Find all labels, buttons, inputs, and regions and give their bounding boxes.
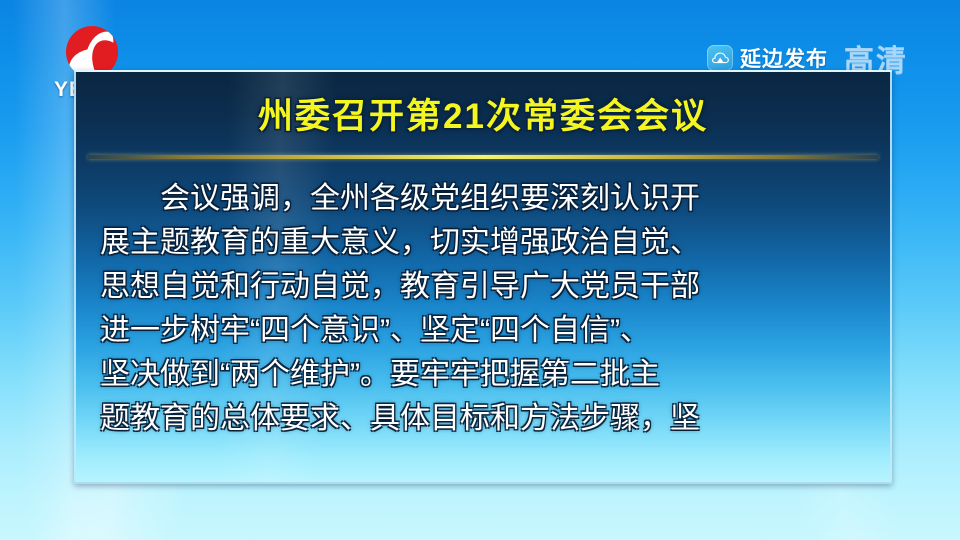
headline-divider (88, 155, 878, 159)
news-panel: 州委召开第21次常委会会议 会议强调，全州各级党组织要深刻认识开展主题教育的重大… (74, 70, 892, 484)
news-body-line: 坚决做到“两个维护”。要牢牢把握第二批主 (100, 353, 866, 397)
brand-name: 延边发布 (740, 43, 828, 73)
news-body-line: 展主题教育的重大意义，切实增强政治自觉、 (100, 221, 866, 265)
broadcast-screen: YBTV-1 延边发布 高清 州委召开第21次常委会会议 会议强调，全州各级党组… (0, 0, 960, 540)
yanbian-cloud-app-icon (707, 45, 733, 71)
news-body-copy: 会议强调，全州各级党组织要深刻认识开展主题教育的重大意义，切实增强政治自觉、思想… (100, 177, 866, 441)
news-body-line: 题教育的总体要求、具体目标和方法步骤，坚 (100, 397, 866, 441)
news-headline: 州委召开第21次常委会会议 (76, 98, 890, 137)
news-body-line: 思想自觉和行动自觉，教育引导广大党员干部 (100, 265, 866, 309)
news-body-line: 进一步树牢“四个意识”、坚定“四个自信”、 (100, 309, 866, 353)
news-body-line: 会议强调，全州各级党组织要深刻认识开 (100, 177, 866, 221)
